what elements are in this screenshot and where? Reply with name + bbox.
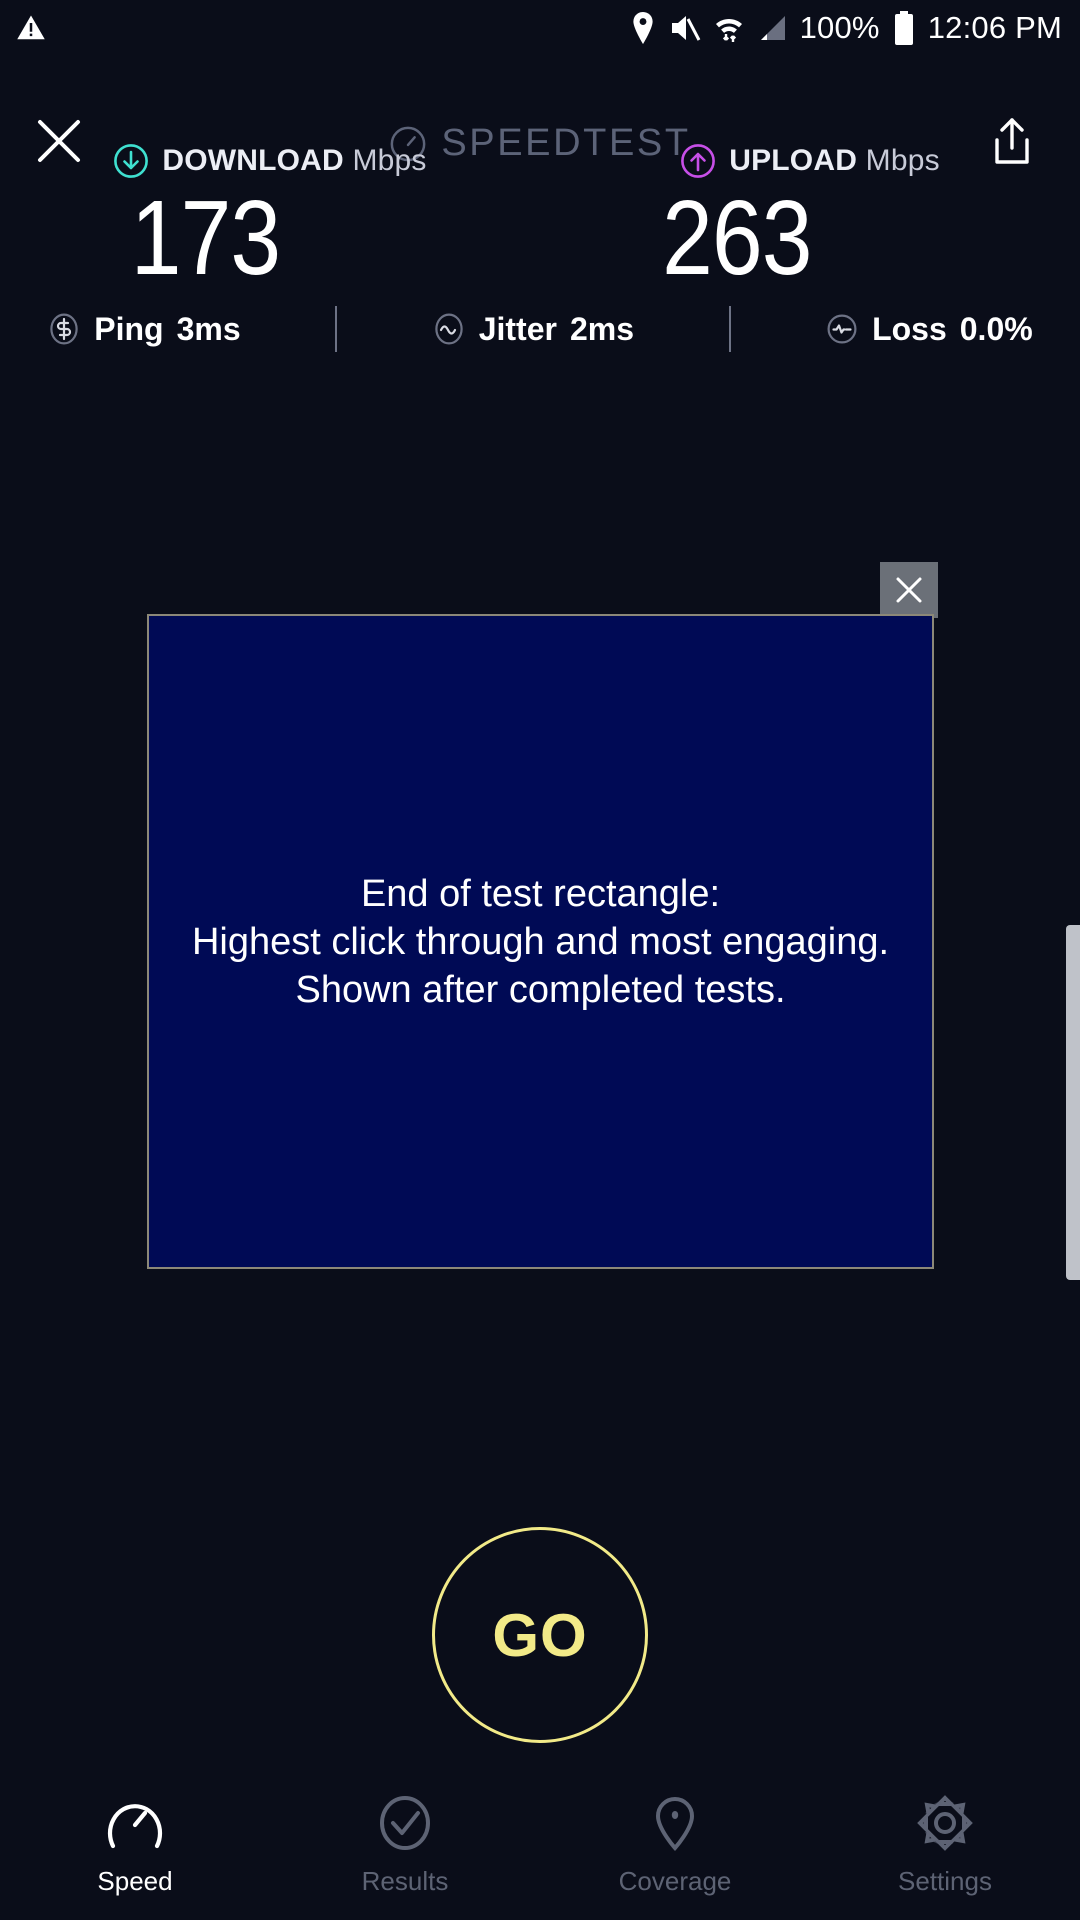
ad-text: End of test rectangle: Highest click thr… bbox=[182, 870, 899, 1014]
download-upload-row: DOWNLOAD Mbps 173 UPLOAD Mbps 263 bbox=[0, 138, 1080, 286]
ping-label: Ping bbox=[94, 311, 163, 348]
download-value: 173 bbox=[38, 190, 502, 286]
battery-percent-label: 100% bbox=[800, 10, 880, 46]
status-bar-clock: 12:06 PM bbox=[928, 10, 1062, 46]
status-bar-right: 100% 12:06 PM bbox=[630, 10, 1062, 46]
mute-icon bbox=[669, 13, 701, 43]
loss-stat: Loss 0.0% bbox=[825, 311, 1033, 348]
upload-label: UPLOAD Mbps bbox=[729, 144, 940, 178]
nav-label-settings: Settings bbox=[898, 1866, 992, 1897]
stat-divider bbox=[729, 306, 731, 352]
nav-label-coverage: Coverage bbox=[619, 1866, 732, 1897]
jitter-stat: Jitter 2ms bbox=[432, 311, 634, 348]
ad-line-3: Shown after completed tests. bbox=[192, 966, 889, 1014]
go-button[interactable]: GO bbox=[432, 1527, 648, 1743]
cell-signal-icon bbox=[757, 13, 787, 43]
nav-item-results[interactable]: Results bbox=[270, 1794, 540, 1897]
speedometer-icon bbox=[104, 1794, 166, 1852]
gear-icon bbox=[914, 1794, 976, 1852]
loss-icon bbox=[825, 312, 859, 346]
upload-metric: UPLOAD Mbps 263 bbox=[540, 138, 1080, 286]
download-arrow-icon bbox=[113, 143, 149, 179]
jitter-value: 2ms bbox=[570, 311, 634, 348]
stat-divider bbox=[335, 306, 337, 352]
jitter-icon bbox=[432, 312, 466, 346]
wifi-transfer-icon bbox=[714, 12, 744, 44]
ping-stat: Ping 3ms bbox=[47, 311, 240, 348]
ping-value: 3ms bbox=[177, 311, 241, 348]
nav-label-results: Results bbox=[362, 1866, 449, 1897]
download-metric-head: DOWNLOAD Mbps bbox=[0, 138, 540, 184]
nav-item-coverage[interactable]: Coverage bbox=[540, 1794, 810, 1897]
nav-item-settings[interactable]: Settings bbox=[810, 1794, 1080, 1897]
advertisement-banner[interactable]: End of test rectangle: Highest click thr… bbox=[147, 614, 934, 1269]
go-button-label: GO bbox=[492, 1601, 587, 1670]
nav-item-speed[interactable]: Speed bbox=[0, 1794, 270, 1897]
ad-close-button[interactable] bbox=[880, 562, 938, 618]
warning-triangle-icon bbox=[16, 13, 46, 43]
loss-label: Loss bbox=[872, 311, 947, 348]
status-bar: 100% 12:06 PM bbox=[0, 0, 1080, 56]
download-label: DOWNLOAD Mbps bbox=[162, 144, 426, 178]
check-circle-icon bbox=[374, 1794, 436, 1852]
upload-metric-head: UPLOAD Mbps bbox=[540, 138, 1080, 184]
ad-line-1: End of test rectangle: bbox=[192, 870, 889, 918]
app-header: SPEEDTEST bbox=[0, 56, 1080, 134]
map-pin-icon bbox=[644, 1794, 706, 1852]
results-panel: DOWNLOAD Mbps 173 UPLOAD Mbps 263 bbox=[0, 138, 1080, 286]
upload-value: 263 bbox=[578, 190, 1042, 286]
jitter-label: Jitter bbox=[479, 311, 557, 348]
loss-value: 0.0% bbox=[960, 311, 1033, 348]
download-metric: DOWNLOAD Mbps 173 bbox=[0, 138, 540, 286]
status-bar-left bbox=[16, 13, 46, 43]
ad-line-2: Highest click through and most engaging. bbox=[192, 918, 889, 966]
ping-jitter-loss-row: Ping 3ms Jitter 2ms Los bbox=[0, 298, 1080, 360]
battery-full-icon bbox=[893, 11, 915, 45]
location-pin-icon bbox=[630, 12, 656, 44]
ping-icon bbox=[47, 312, 81, 346]
scroll-edge-indicator[interactable] bbox=[1066, 925, 1080, 1280]
nav-label-speed: Speed bbox=[97, 1866, 172, 1897]
bottom-navigation-bar: Speed Results Coverage bbox=[0, 1780, 1080, 1920]
speedtest-app-screen: 100% 12:06 PM SPEEDTEST bbox=[0, 0, 1080, 1920]
upload-arrow-icon bbox=[680, 143, 716, 179]
